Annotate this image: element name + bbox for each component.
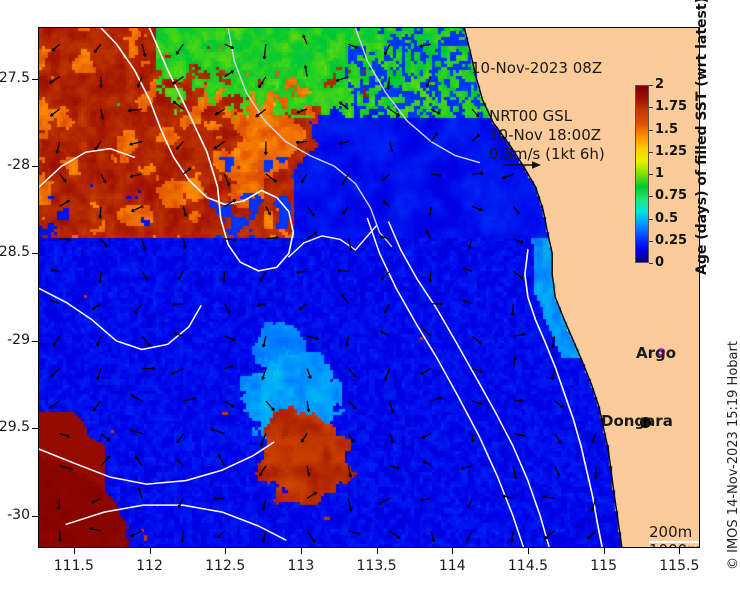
current-vector-arrow [266,401,274,411]
current-vector-arrow [172,369,184,375]
current-vector-arrow [307,492,317,498]
current-vector-arrow [52,44,60,51]
current-vector-arrow [97,336,101,346]
current-vector-arrow [307,336,318,339]
current-vector-arrow [266,174,277,182]
colorbar-tick-label: 1 [655,166,664,181]
depth-label-1000m: 1000m [649,541,700,548]
y-tick-label: -28.5 [0,244,30,260]
current-vector-arrow [511,531,514,542]
current-vector-arrow [307,531,315,543]
current-vector-arrow [176,142,183,150]
current-vector-arrow [469,239,473,249]
current-vector-arrow [307,369,311,379]
x-tick-label: 114.5 [493,558,563,574]
current-vector-arrow [472,134,479,141]
gsl-line-1: NRT00 GSL [489,107,572,125]
current-vector-arrow [225,401,235,407]
current-vector-arrow [422,434,431,439]
date-stamp: 10-Nov-2023 08Z [471,59,602,77]
current-vector-arrow [513,333,525,336]
current-vector-arrow [211,429,224,434]
current-vector-arrow [503,174,514,179]
current-vector-arrow [461,466,472,470]
current-vector-arrow [262,531,266,543]
current-vector-arrow [385,304,390,313]
x-tick [604,548,605,554]
current-vector-arrow [302,174,308,183]
colorbar-tick-label: 2 [655,77,664,92]
current-vector-arrow [101,109,104,119]
current-vector-arrow [307,466,310,476]
current-vector-arrow [339,102,348,109]
current-vector-arrow [348,531,360,535]
current-vector-arrow [346,336,349,346]
current-vector-arrow [472,434,475,443]
current-vector-arrow [336,77,348,82]
current-vector-arrow [387,77,390,89]
current-vector-arrow [423,461,431,466]
y-tick [32,253,38,254]
map-plot-area[interactable]: 10-Nov-2023 08Z NRT00 GSL 10-Nov 18:00Z … [38,27,700,548]
current-vector-arrow [142,44,146,56]
x-tick [74,548,75,554]
current-vector-arrow [431,397,442,401]
contour-200m [525,250,602,547]
colorbar-tick [649,85,653,86]
current-vector-arrow [390,142,393,153]
current-vector-arrow [380,331,389,336]
y-tick [32,79,38,80]
current-vector-arrow [60,466,73,470]
current-vector-arrow [60,201,70,207]
current-vector-arrow [297,109,307,113]
current-vector-arrow [592,434,596,443]
current-vector-arrow [101,456,110,466]
x-tick [452,548,453,554]
current-vector-arrow [183,398,196,401]
colorbar-tick-label: 1.25 [655,144,687,159]
current-vector-arrow [303,35,307,44]
current-vector-arrow [99,206,102,218]
current-vector-arrow [296,141,307,144]
current-vector-arrow [513,357,516,368]
x-tick-label: 112.5 [190,558,260,574]
dongara-label: Dongara [601,412,673,430]
current-vector-arrow [382,174,390,181]
colorbar-tick [649,196,653,197]
current-vector-arrow [263,336,266,347]
current-vector-arrow [130,430,142,434]
current-vector-arrow [343,206,349,214]
current-vector-arrow [257,304,266,307]
current-vector-arrow [429,271,432,282]
colorbar-gradient [635,85,649,263]
current-vector-arrow [99,271,102,283]
current-vector-arrow [555,466,560,476]
contour-sw-arc-b [66,505,286,540]
current-vector-arrow [51,369,60,377]
x-tick-label: 115.5 [644,558,714,574]
current-vector-arrow [176,44,183,54]
current-vector-arrow [431,109,440,114]
colorbar-tick [649,263,653,264]
current-vector-arrow [266,206,271,215]
current-vector-arrow [225,71,234,77]
current-vector-arrow [172,77,183,84]
current-vector-arrow [472,206,482,210]
current-vector-arrow [101,239,107,247]
credit-text: © IMOS 14-Nov-2023 15:19 Hobart [726,300,740,570]
current-vector-arrow [263,44,266,59]
current-vector-arrow [60,238,71,241]
current-vector-arrow [94,401,101,411]
gsl-info-block: NRT00 GSL 10-Nov 18:00Z 0.5m/s (1kt 6h) [489,107,605,164]
y-tick-label: -29.5 [0,419,30,435]
current-vector-arrow [101,434,110,441]
current-vector-arrow [259,466,266,476]
current-vector-arrow [348,369,356,377]
current-vector-arrow [390,401,394,413]
current-vector-arrow [173,101,183,109]
current-vector-arrow [555,401,564,407]
current-vector-arrow [339,142,349,145]
colorbar-tick [649,152,653,153]
current-vector-arrow [260,271,266,281]
map-vector-overlay [39,28,699,547]
current-vector-arrow [429,206,432,216]
current-vector-arrow [423,329,431,336]
colorbar-tick-label: 0.5 [655,211,678,226]
current-vector-arrow [427,77,431,87]
colorbar-tick [649,174,653,175]
current-vector-arrow [552,336,555,348]
depth-label-200m: 200m [649,523,692,541]
current-vector-arrow [431,133,438,141]
current-vector-arrow [177,459,183,466]
current-vector-arrow [92,304,101,310]
y-tick [32,428,38,429]
current-vector-arrow [225,174,230,186]
current-vector-arrow [60,434,70,438]
x-tick [679,548,680,554]
current-vector-arrow [173,303,184,306]
contour-front-loop [150,28,294,271]
current-vector-arrow [218,454,224,466]
current-vector-arrow [131,395,142,401]
current-vector-arrow [135,304,142,314]
current-vector-arrow [381,271,390,280]
current-vector-arrow [128,109,142,112]
x-tick [301,548,302,554]
current-vector-arrow [51,269,60,272]
current-vector-arrow [142,239,145,251]
current-vector-arrow [130,174,142,177]
contour-nw-arc [39,149,134,187]
current-vector-arrow [390,434,394,444]
contour-mid-link [289,226,377,257]
current-vector-arrow [142,271,148,280]
y-tick-label: -30 [0,507,30,523]
current-vector-arrow [463,268,472,272]
current-vector-arrow [543,496,555,499]
current-vector-arrow [338,269,349,272]
current-vector-arrow [472,109,479,117]
current-vector-arrow [503,495,514,498]
current-vector-arrow [348,434,353,443]
current-vector-arrow [138,488,142,499]
current-vector-arrow [223,271,226,282]
current-vector-arrow [595,466,598,479]
current-vector-arrow [513,239,523,243]
current-vector-arrow [50,77,60,84]
y-tick-label: -29 [0,332,30,348]
colorbar-tick [649,241,653,242]
colorbar-title: Age (days) of filled SST (wrt latest) [694,85,710,275]
colorbar-tick-label: 1.75 [655,99,687,114]
current-vector-arrow [513,434,525,437]
current-vector-arrow [468,498,473,508]
current-vector-arrow [513,206,519,214]
x-tick-label: 115 [569,558,639,574]
current-vector-arrow [131,206,142,211]
current-vector-arrow [136,456,143,466]
x-tick-label: 112 [115,558,185,574]
current-vector-arrow [225,366,234,369]
current-vector-arrow [97,369,101,380]
current-vector-arrow [178,271,183,280]
current-vector-arrow [50,300,60,304]
current-vector-arrow [307,206,314,216]
current-vector-arrow [348,498,351,511]
current-vector-arrow [383,201,390,206]
y-tick-label: -27.5 [0,70,30,86]
gsl-line-2: 10-Nov 18:00Z [489,126,601,144]
contour-front-loop-b [101,28,261,205]
coastline [464,28,621,547]
current-vector-arrow [214,142,225,149]
current-vector-arrow [342,294,349,304]
x-tick [225,548,226,554]
contour-shelf-b [368,219,524,548]
current-vector-arrow [59,531,62,542]
current-vector-arrow [431,531,435,542]
current-vector-arrow [266,236,279,239]
current-vector-arrow [348,401,356,409]
contour-sw-arc [39,442,274,484]
current-vector-arrow [304,66,307,77]
current-vector-arrow [513,466,516,479]
current-vector-arrow [94,44,101,52]
current-vector-arrow [555,434,561,444]
current-vector-arrow [261,434,266,447]
current-vector-arrow [348,466,351,478]
current-vector-arrow [183,239,186,249]
current-vector-arrow [301,434,307,443]
x-tick-label: 111.5 [39,558,109,574]
colorbar-tick-label: 0 [655,255,664,270]
colorbar-tick-label: 1.5 [655,122,678,137]
current-vector-arrow [218,531,225,538]
current-vector-arrow [225,304,230,314]
current-vector-arrow [513,271,523,279]
current-vector-arrow [262,369,266,380]
colorbar-tick [649,219,653,220]
y-tick [32,166,38,167]
current-vector-arrow [379,498,390,504]
contour-1000m-b [355,28,479,163]
current-vector-arrow [215,109,224,115]
current-vector-arrow [178,498,183,508]
x-tick-label: 114 [417,558,487,574]
current-vector-arrow [420,44,431,47]
x-tick [377,548,378,554]
current-vector-arrow [587,531,596,539]
current-vector-arrow [262,498,266,510]
current-vector-arrow [513,399,523,402]
x-tick [528,548,529,554]
current-vector-arrow [60,174,67,182]
current-vector-arrow [183,168,190,174]
colorbar-tick [649,107,653,108]
current-vector-arrow [431,174,442,177]
right-arrow-icon [501,158,543,172]
current-vector-arrow [183,206,186,216]
x-tick-label: 113.5 [342,558,412,574]
y-tick [32,341,38,342]
current-vector-arrow [307,401,310,412]
current-vector-arrow [472,172,483,175]
current-vector-arrow [101,174,106,183]
colorbar-tick-label: 0.25 [655,233,687,248]
current-vector-arrow [512,304,515,316]
current-vector-arrow [390,466,400,469]
colorbar-tick-label: 0.75 [655,188,687,203]
current-vector-arrow [56,142,59,154]
current-vector-arrow [95,142,101,151]
current-vector-arrow [297,271,307,274]
current-vector-arrow [92,498,101,503]
current-vector-arrow [225,336,236,340]
current-vector-arrow [213,497,224,500]
y-tick-label: -28 [0,157,30,173]
current-vector-arrow [472,401,482,404]
current-vector-arrow [348,44,357,48]
current-vector-arrow [472,336,482,344]
current-vector-arrow [259,77,266,88]
x-tick-label: 113 [266,558,336,574]
current-vector-arrow [390,531,400,539]
current-vector-arrow [177,434,183,443]
contour-west-arc [39,288,201,349]
x-tick [150,548,151,554]
current-vector-arrow [53,336,60,346]
current-vector-arrow [420,498,431,501]
current-vector-arrow [467,531,472,541]
current-vector-arrow [385,44,390,55]
current-vector-arrow [426,231,431,239]
current-vector-arrow [58,498,61,509]
current-vector-arrow [142,367,155,370]
current-vector-arrow [385,369,390,381]
current-vector-arrow [90,528,101,531]
sst-age-map-figure: 10-Nov-2023 08Z NRT00 GSL 10-Nov 18:00Z … [0,0,740,592]
current-vector-arrow [463,300,472,304]
current-vector-arrow [225,44,234,48]
current-vector-arrow [49,401,59,408]
colorbar-tick [649,130,653,131]
current-vector-arrow [421,369,431,375]
current-vector-arrow [130,142,143,146]
current-vector-arrow [299,304,307,310]
current-vector-arrow [181,531,184,543]
y-tick [32,516,38,517]
current-vector-arrow [552,369,555,380]
current-vector-arrow [100,77,103,88]
current-vector-arrow [50,109,59,116]
current-vector-arrow [142,336,150,346]
current-vector-arrow [265,142,268,155]
argo-label: Argo [636,344,676,362]
current-vector-arrow [131,531,143,537]
